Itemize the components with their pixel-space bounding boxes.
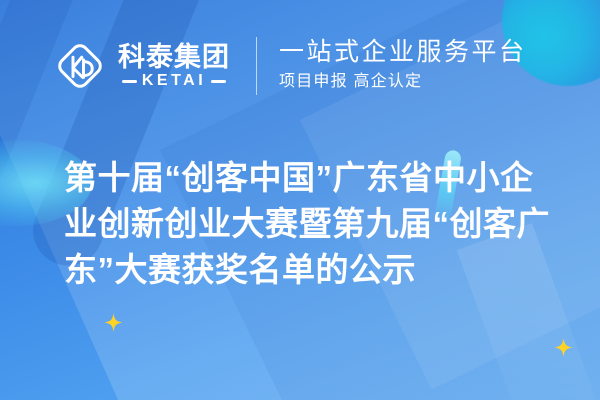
title-line: 东”大赛获奖名单的公示 — [64, 247, 564, 293]
brand-name-latin: KETAI — [142, 73, 206, 89]
wordmark-rule-left — [122, 80, 137, 83]
tagline-primary: 一站式企业服务平台 — [279, 38, 527, 68]
ketai-diamond-kd-logo-icon — [52, 38, 108, 94]
sparkle-star-icon — [104, 313, 123, 332]
brand-logo[interactable]: 科泰集团 KETAI — [52, 38, 230, 94]
announcement-title: 第十届“创客中国”广东省中小企 业创新创业大赛暨第九届“创客广 东”大赛获奖名单… — [64, 155, 564, 293]
header-tagline: 一站式企业服务平台 项目申报 高企认定 — [279, 38, 527, 95]
brand-name-cn: 科泰集团 — [118, 43, 230, 71]
brand-wordmark: 科泰集团 KETAI — [118, 43, 230, 89]
promo-banner: 科泰集团 KETAI 一站式企业服务平台 项目申报 高企认定 第十届“创客中国”… — [0, 0, 600, 400]
header-vertical-divider — [256, 37, 257, 95]
banner-header: 科泰集团 KETAI 一站式企业服务平台 项目申报 高企认定 — [0, 0, 600, 132]
wordmark-rule-right — [211, 80, 226, 83]
brand-name-latin-row: KETAI — [122, 73, 226, 89]
title-line: 第十届“创客中国”广东省中小企 — [64, 155, 564, 201]
title-line: 业创新创业大赛暨第九届“创客广 — [64, 201, 564, 247]
tagline-secondary: 项目申报 高企认定 — [279, 70, 527, 94]
sparkle-star-icon — [554, 338, 573, 357]
